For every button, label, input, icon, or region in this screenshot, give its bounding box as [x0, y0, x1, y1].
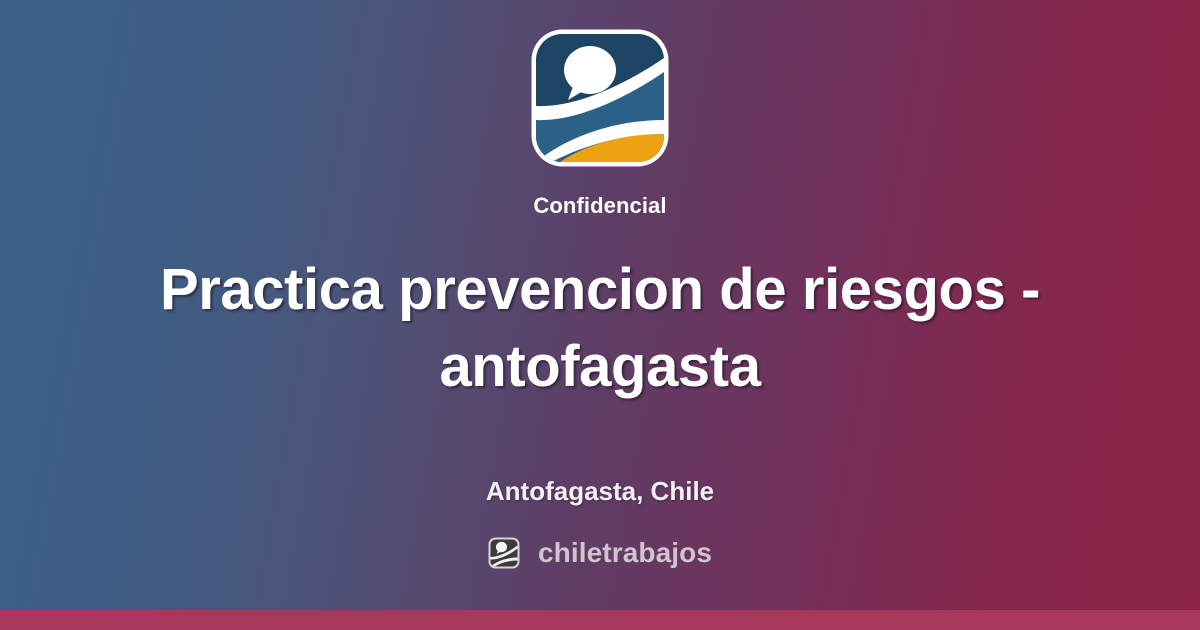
chiletrabajos-logo-icon: [530, 28, 670, 168]
brand-footer: chiletrabajos: [488, 537, 712, 569]
confidential-badge: Confidencial: [533, 194, 666, 218]
bottom-accent-bar: [0, 610, 1200, 630]
job-location: Antofagasta, Chile: [486, 476, 714, 507]
chiletrabajos-mark-icon: [488, 537, 520, 569]
job-title: Practica prevencion de riesgos - antofag…: [70, 252, 1130, 405]
company-logo: [530, 28, 670, 168]
brand-name: chiletrabajos: [538, 539, 712, 567]
job-share-card: Confidencial Practica prevencion de ries…: [0, 0, 1200, 630]
